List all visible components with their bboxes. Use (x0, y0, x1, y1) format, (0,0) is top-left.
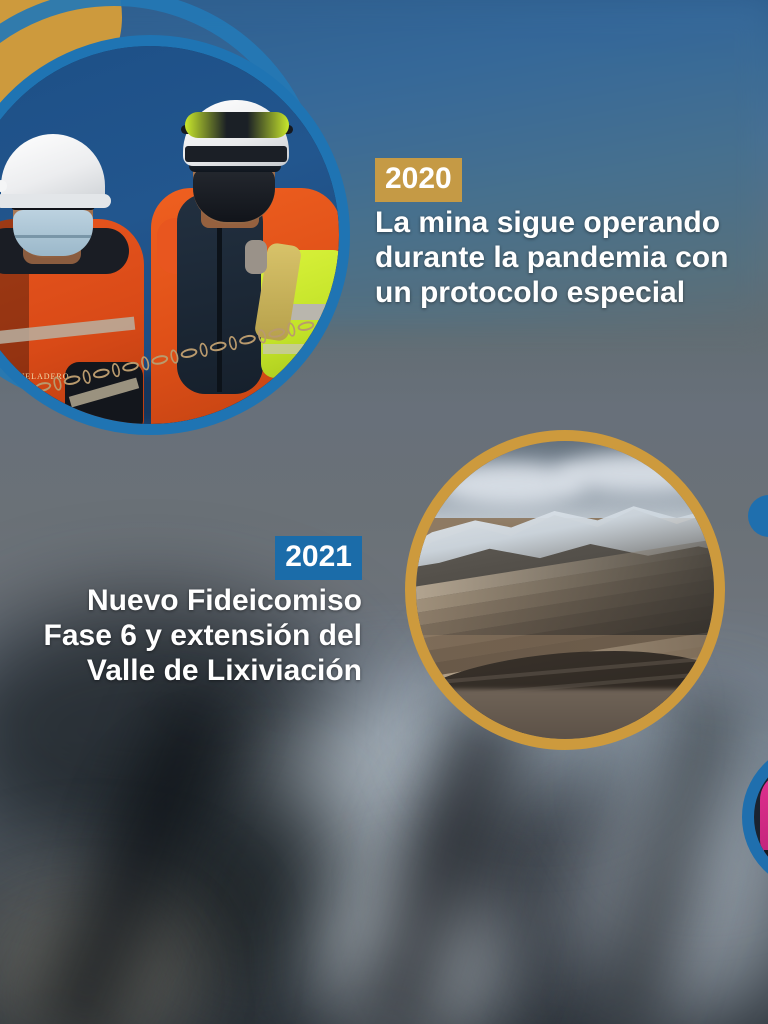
headline-2020: La mina sigue operando durante la pandem… (375, 206, 760, 310)
year-badge-2021: 2021 (275, 536, 362, 580)
timeline-entry-2021: 2021 Nuevo Fideicomiso Fase 6 y extensió… (12, 536, 362, 688)
timeline-entry-2020: 2020 La mina sigue operando durante la p… (375, 158, 760, 310)
headline-2021: Nuevo Fideicomiso Fase 6 y extensión del… (12, 584, 362, 688)
infographic-canvas: VELADERO 2020 La mina sigue operando dur… (0, 0, 768, 1024)
year-badge-2020: 2020 (375, 158, 462, 202)
mine-workers-ppe-photo: VELADERO (0, 35, 350, 435)
open-pit-mine-photo (405, 430, 725, 750)
